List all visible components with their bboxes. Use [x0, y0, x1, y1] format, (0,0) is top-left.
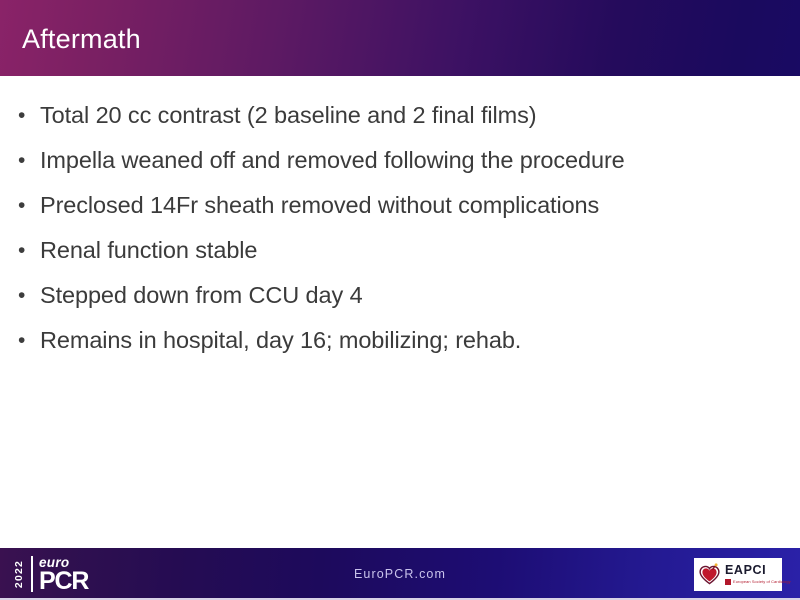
list-item: • Stepped down from CCU day 4	[18, 273, 788, 318]
bullet-text: Remains in hospital, day 16; mobilizing;…	[40, 318, 521, 363]
slide-footer-bar: EuroPCR.com 2022 euro PCR	[0, 548, 800, 600]
list-item: • Total 20 cc contrast (2 baseline and 2…	[18, 93, 788, 138]
bullet-text: Preclosed 14Fr sheath removed without co…	[40, 183, 599, 228]
list-item: • Renal function stable	[18, 228, 788, 273]
list-item: • Remains in hospital, day 16; mobilizin…	[18, 318, 788, 363]
bullet-text: Stepped down from CCU day 4	[40, 273, 363, 318]
europcr-logo-year: 2022	[13, 555, 25, 593]
slide-body: • Total 20 cc contrast (2 baseline and 2…	[0, 76, 800, 548]
logo-divider	[31, 556, 33, 592]
bullet-list: • Total 20 cc contrast (2 baseline and 2…	[18, 93, 788, 363]
eapci-badge: EAPCI European Society of Cardiology	[694, 558, 782, 591]
eapci-subtitle-row: European Society of Cardiology	[725, 579, 791, 585]
eapci-name: EAPCI	[725, 564, 791, 577]
europcr-logo-wordmark: euro PCR	[39, 556, 88, 593]
heart-icon	[698, 563, 721, 586]
slide-title: Aftermath	[22, 26, 141, 53]
bullet-text: Renal function stable	[40, 228, 257, 273]
bullet-text: Impella weaned off and removed following…	[40, 138, 625, 183]
esc-mark-icon	[725, 579, 731, 585]
list-item: • Impella weaned off and removed followi…	[18, 138, 788, 183]
europcr-logo: 2022 euro PCR	[10, 552, 100, 596]
bullet-point-icon: •	[18, 93, 40, 138]
bullet-point-icon: •	[18, 273, 40, 318]
slide-header-bar: Aftermath	[0, 0, 800, 76]
eapci-subtitle: European Society of Cardiology	[733, 580, 791, 584]
footer-url-text: EuroPCR.com	[0, 548, 800, 600]
bullet-point-icon: •	[18, 183, 40, 228]
bullet-point-icon: •	[18, 228, 40, 273]
presentation-slide: Aftermath • Total 20 cc contrast (2 base…	[0, 0, 800, 600]
eapci-text-block: EAPCI European Society of Cardiology	[725, 564, 791, 584]
list-item: • Preclosed 14Fr sheath removed without …	[18, 183, 788, 228]
europcr-logo-name: PCR	[39, 570, 88, 593]
bullet-point-icon: •	[18, 318, 40, 363]
bullet-text: Total 20 cc contrast (2 baseline and 2 f…	[40, 93, 536, 138]
bullet-point-icon: •	[18, 138, 40, 183]
